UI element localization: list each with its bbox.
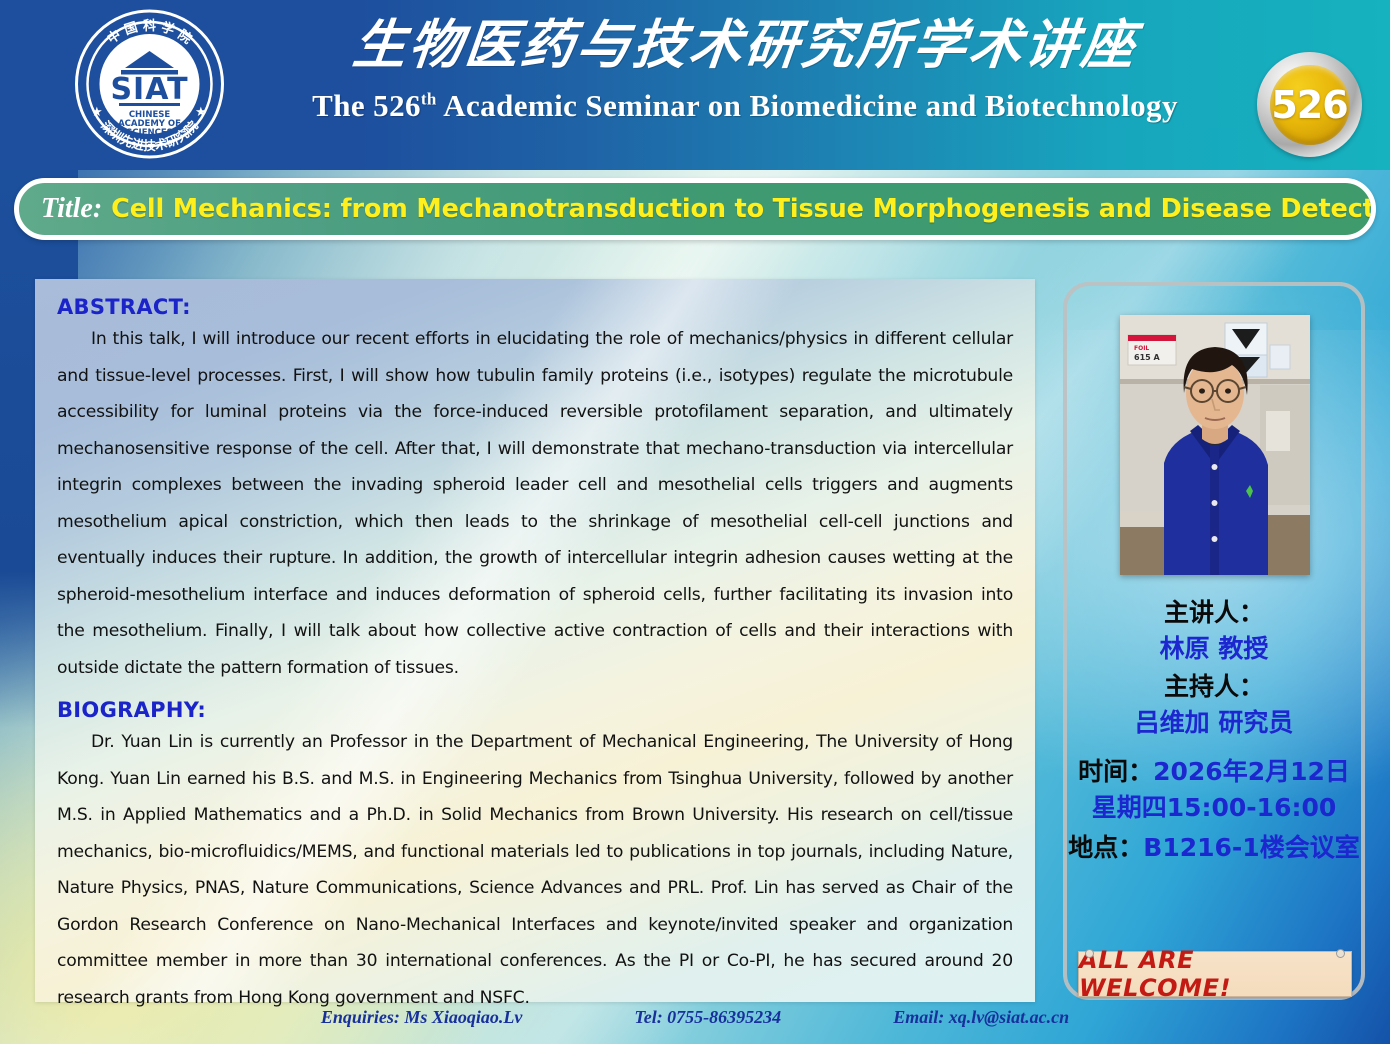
seminar-number-badge: 526 xyxy=(1257,52,1362,157)
header-english-title: The 526th Academic Seminar on Biomedicin… xyxy=(250,88,1240,124)
title-text: Cell Mechanics: from Mechanotransduction… xyxy=(111,194,1376,224)
abstract-body: In this talk, I will introduce our recen… xyxy=(57,321,1013,686)
biography-heading: BIOGRAPHY: xyxy=(57,698,1013,722)
pin-right-icon xyxy=(1336,949,1345,958)
speaker-details: 主讲人： 林原 教授 主持人： 吕维加 研究员 时间：2026年2月12日 星期… xyxy=(1068,600,1360,860)
footer-enquiries: Enquiries: Ms Xiaoqiao.Lv xyxy=(321,1007,523,1028)
welcome-text: ALL ARE WELCOME! xyxy=(1079,946,1351,1002)
poster-header: 中 国 科 学 院 深圳先进技术研究院 SIAT CHINESE ACADEMY… xyxy=(0,0,1390,170)
poster-footer: Enquiries: Ms Xiaoqiao.Lv Tel: 0755-8639… xyxy=(0,1007,1390,1028)
svg-text:FOIL: FOIL xyxy=(1134,345,1149,352)
footer-email: Email: xq.lv@siat.ac.cn xyxy=(893,1007,1069,1028)
speaker-label: 主讲人： xyxy=(1068,600,1360,625)
place-value: B1216-1楼会议室 xyxy=(1143,833,1359,862)
host-name: 吕维加 研究员 xyxy=(1068,710,1360,735)
time-label: 时间： xyxy=(1078,757,1153,786)
welcome-banner: ALL ARE WELCOME! xyxy=(1078,951,1352,997)
svg-text:615 A: 615 A xyxy=(1134,353,1160,362)
place-label: 地点： xyxy=(1068,833,1143,862)
header-en-post: Academic Seminar on Biomedicine and Biot… xyxy=(437,88,1178,123)
abstract-body-text: In this talk, I will introduce our recen… xyxy=(57,329,1013,678)
time-row: 时间：2026年2月12日 xyxy=(1068,759,1360,784)
badge-inner-disc: 526 xyxy=(1270,65,1350,145)
pin-left-icon xyxy=(1085,949,1094,958)
footer-tel: Tel: 0755-86395234 xyxy=(634,1007,781,1028)
seminar-poster: 中 国 科 学 院 深圳先进技术研究院 SIAT CHINESE ACADEMY… xyxy=(0,0,1390,1044)
header-chinese-title: 生物医药与技术研究所学术讲座 xyxy=(247,16,1243,77)
speaker-name: 林原 教授 xyxy=(1068,636,1360,661)
abstract-panel: ABSTRACT: In this talk, I will introduce… xyxy=(35,279,1035,1002)
title-bar: Title: Cell Mechanics: from Mechanotrans… xyxy=(14,178,1376,240)
title-label: Title: xyxy=(41,193,102,225)
svg-text:SCIENCES: SCIENCES xyxy=(126,128,173,138)
svg-text:★: ★ xyxy=(91,104,103,119)
time-value-2: 星期四15:00-16:00 xyxy=(1068,795,1360,820)
biography-body: Dr. Yuan Lin is currently an Professor i… xyxy=(57,724,1013,1016)
header-en-ordinal: th xyxy=(421,90,437,109)
svg-text:SIAT: SIAT xyxy=(110,72,188,107)
speaker-photo: FOIL 615 A xyxy=(1120,315,1310,575)
time-value: 2026年2月12日 xyxy=(1153,757,1350,786)
header-title-block: 生物医药与技术研究所学术讲座 The 526th Academic Semina… xyxy=(250,16,1240,124)
place-row: 地点：B1216-1楼会议室 xyxy=(1068,835,1360,860)
header-en-pre: The 526 xyxy=(312,88,421,123)
siat-logo: 中 国 科 学 院 深圳先进技术研究院 SIAT CHINESE ACADEMY… xyxy=(62,4,237,164)
svg-text:★: ★ xyxy=(195,104,207,119)
badge-number-text: 526 xyxy=(1271,83,1347,127)
abstract-heading: ABSTRACT: xyxy=(57,295,1013,319)
host-label: 主持人： xyxy=(1068,674,1360,699)
biography-body-text: Dr. Yuan Lin is currently an Professor i… xyxy=(57,732,1013,1008)
